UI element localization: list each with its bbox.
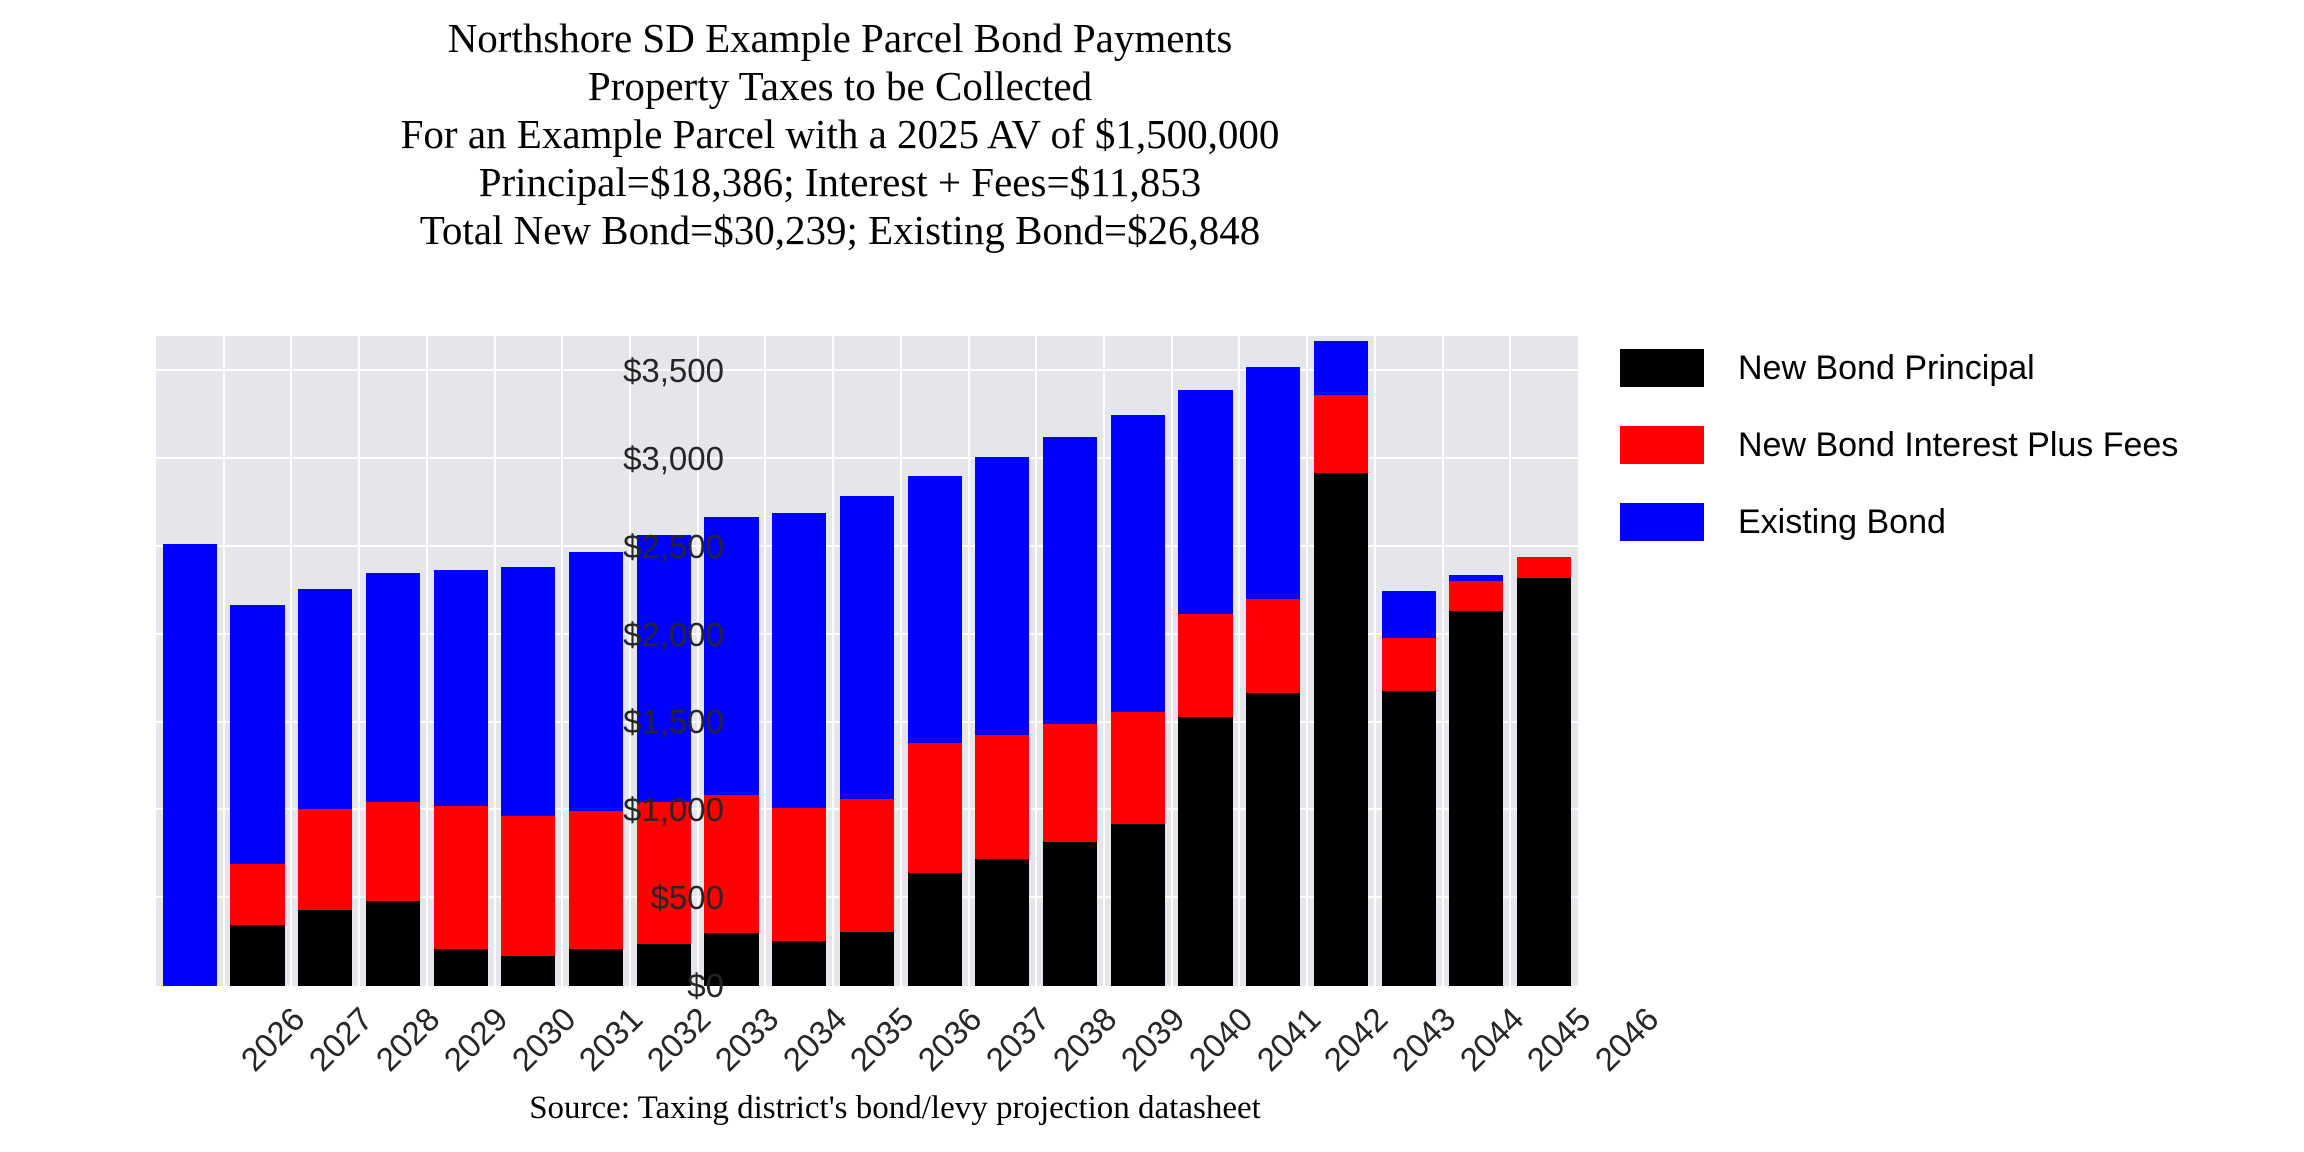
- bar-segment: [1043, 724, 1097, 842]
- bar-segment: [840, 932, 894, 986]
- bar-group: [1043, 336, 1097, 986]
- bar-segment: [637, 535, 691, 801]
- title-line-1: Northshore SD Example Parcel Bond Paymen…: [0, 14, 1680, 62]
- bar-segment: [840, 496, 894, 799]
- blue-swatch-icon: [1620, 503, 1704, 541]
- y-tick-label: $3,500: [424, 352, 724, 390]
- y-tick-label: $3,000: [424, 440, 724, 478]
- title-line-3: For an Example Parcel with a 2025 AV of …: [0, 110, 1680, 158]
- bar-segment: [298, 910, 352, 986]
- legend-label-existing-bond: Existing Bond: [1738, 503, 1946, 542]
- x-tick-label: 2045: [1520, 1000, 1599, 1079]
- bar-group: [298, 336, 352, 986]
- bar-segment: [1314, 341, 1368, 395]
- bar-segment: [230, 925, 284, 986]
- bar-segment: [569, 552, 623, 811]
- bar-segment: [908, 743, 962, 873]
- x-tick-label: 2038: [1046, 1000, 1125, 1079]
- x-tick-label: 2028: [369, 1000, 448, 1079]
- bar-segment: [1449, 581, 1503, 611]
- bar-segment: [1382, 638, 1436, 691]
- bar-segment: [908, 476, 962, 743]
- bar-segment: [772, 808, 826, 942]
- y-tick-label: $1,000: [424, 791, 724, 829]
- bar-segment: [1043, 437, 1097, 724]
- x-tick-label: 2036: [911, 1000, 990, 1079]
- y-tick-label: $0: [424, 967, 724, 1005]
- x-tick-label: 2034: [775, 1000, 854, 1079]
- bar-segment: [1178, 614, 1232, 717]
- bar-segment: [975, 735, 1029, 859]
- y-tick-label: $500: [424, 879, 724, 917]
- bar-group: [230, 336, 284, 986]
- bar-segment: [366, 573, 420, 801]
- legend-item-existing-bond: Existing Bond: [1620, 494, 2280, 550]
- x-tick-label: 2040: [1181, 1000, 1260, 1079]
- x-tick-label: 2032: [640, 1000, 719, 1079]
- bar-segment: [1314, 473, 1368, 986]
- y-tick-label: $1,500: [424, 703, 724, 741]
- bar-segment: [1111, 824, 1165, 987]
- legend-label-new-bond-principal: New Bond Principal: [1738, 349, 2035, 388]
- x-tick-label: 2030: [504, 1000, 583, 1079]
- x-tick-label: 2027: [301, 1000, 380, 1079]
- bar-segment: [1314, 395, 1368, 473]
- title-line-5: Total New Bond=$30,239; Existing Bond=$2…: [0, 206, 1680, 254]
- legend-item-new-bond-principal: New Bond Principal: [1620, 340, 2280, 396]
- black-swatch-icon: [1620, 349, 1704, 387]
- title-line-4: Principal=$18,386; Interest + Fees=$11,8…: [0, 158, 1680, 206]
- bar-segment: [230, 864, 284, 925]
- bar-segment: [434, 570, 488, 806]
- bar-group: [163, 336, 217, 986]
- chart-title: Northshore SD Example Parcel Bond Paymen…: [0, 14, 1680, 254]
- x-tick-label: 2039: [1114, 1000, 1193, 1079]
- bar-segment: [298, 589, 352, 809]
- bar-segment: [975, 457, 1029, 735]
- bar-segment: [1246, 599, 1300, 693]
- bar-segment: [1382, 691, 1436, 986]
- chart-legend: New Bond Principal New Bond Interest Plu…: [1620, 340, 2280, 571]
- x-tick-label: 2041: [1249, 1000, 1328, 1079]
- bar-group: [1449, 336, 1503, 986]
- bar-segment: [1178, 717, 1232, 986]
- bar-segment: [840, 799, 894, 933]
- bar-segment: [1246, 693, 1300, 986]
- x-tick-label: 2035: [843, 1000, 922, 1079]
- bar-segment: [975, 859, 1029, 986]
- bar-segment: [501, 567, 555, 816]
- x-tick-label: 2044: [1452, 1000, 1531, 1079]
- plot-area: [156, 336, 1578, 986]
- bar-group: [840, 336, 894, 986]
- bar-group: [1314, 336, 1368, 986]
- y-tick-label: $2,000: [424, 616, 724, 654]
- x-tick-label: 2031: [572, 1000, 651, 1079]
- bar-segment: [366, 802, 420, 901]
- bar-segment: [1178, 390, 1232, 614]
- bar-segment: [1246, 367, 1300, 599]
- bar-segment: [1043, 842, 1097, 986]
- bar-group: [1178, 336, 1232, 986]
- bar-segment: [1517, 578, 1571, 986]
- bar-group: [1111, 336, 1165, 986]
- x-tick-label: 2037: [978, 1000, 1057, 1079]
- bar-segment: [1111, 415, 1165, 712]
- bar-group: [366, 336, 420, 986]
- bar-group: [1246, 336, 1300, 986]
- x-tick-label: 2033: [707, 1000, 786, 1079]
- legend-label-new-bond-interest-plus-fees: New Bond Interest Plus Fees: [1738, 426, 2178, 465]
- bar-segment: [1382, 591, 1436, 638]
- bar-segment: [230, 605, 284, 864]
- bar-segment: [366, 901, 420, 986]
- bar-segment: [1517, 557, 1571, 578]
- red-swatch-icon: [1620, 426, 1704, 464]
- title-line-2: Property Taxes to be Collected: [0, 62, 1680, 110]
- bar-segment: [1449, 575, 1503, 581]
- bar-segment: [908, 873, 962, 986]
- bar-segment: [298, 809, 352, 910]
- x-tick-label: 2046: [1588, 1000, 1667, 1079]
- x-tick-label: 2026: [233, 1000, 312, 1079]
- bar-group: [772, 336, 826, 986]
- source-note: Source: Taxing district's bond/levy proj…: [0, 1090, 1790, 1127]
- y-tick-label: $2,500: [424, 528, 724, 566]
- x-tick-label: 2029: [437, 1000, 516, 1079]
- legend-item-new-bond-interest-plus-fees: New Bond Interest Plus Fees: [1620, 417, 2280, 473]
- bar-series-layer: [156, 336, 1578, 986]
- bar-group: [1382, 336, 1436, 986]
- x-tick-label: 2043: [1385, 1000, 1464, 1079]
- bar-segment: [772, 513, 826, 807]
- bar-group: [975, 336, 1029, 986]
- bar-segment: [1449, 611, 1503, 986]
- bar-segment: [1111, 712, 1165, 824]
- bar-segment: [163, 544, 217, 986]
- bar-segment: [772, 941, 826, 986]
- bar-group: [1517, 336, 1571, 986]
- x-tick-label: 2042: [1317, 1000, 1396, 1079]
- bar-group: [908, 336, 962, 986]
